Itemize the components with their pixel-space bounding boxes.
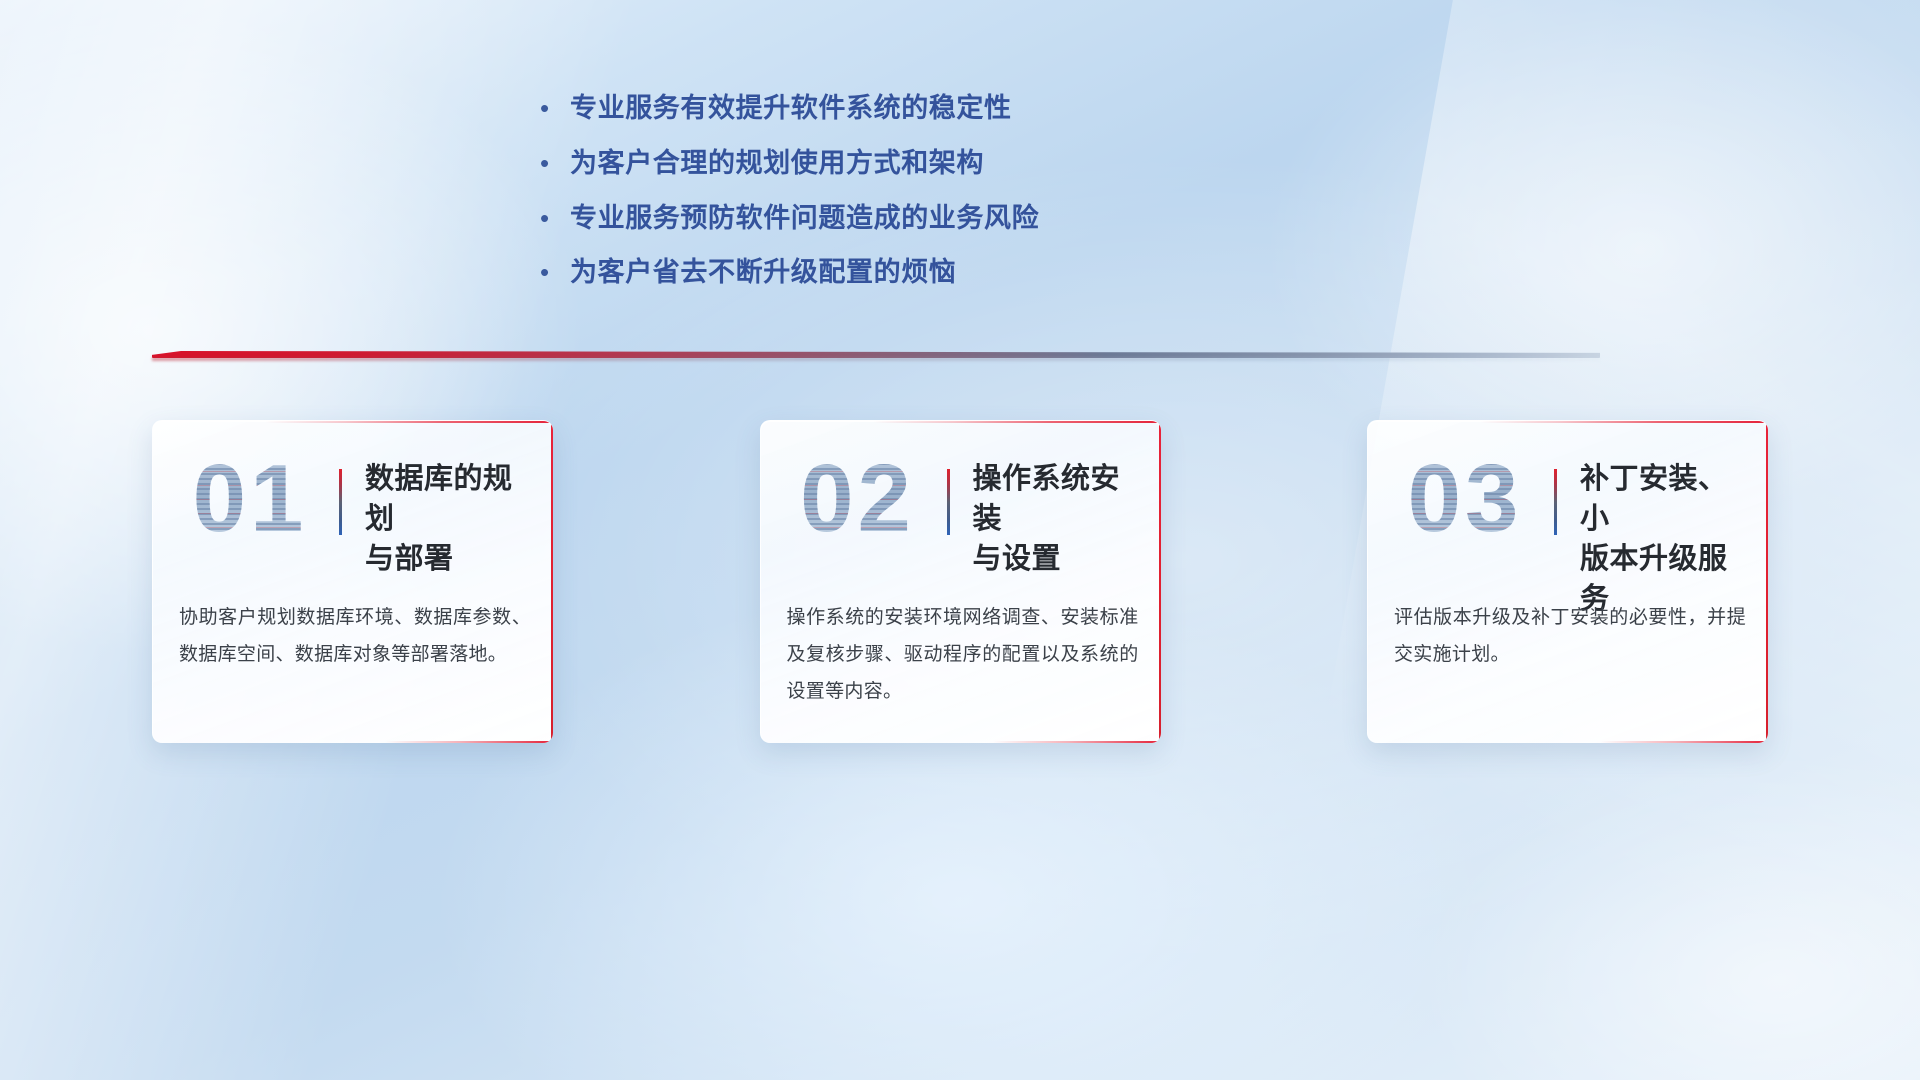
bullet-text: 为客户合理的规划使用方式和架构 (570, 147, 984, 181)
card-accent-bottom (1600, 741, 1768, 743)
card-accent-bottom (993, 741, 1161, 743)
bullet-text: 专业服务预防软件问题造成的业务风险 (570, 202, 1039, 236)
bullet-list: • 专业服务有效提升软件系统的稳定性 • 为客户合理的规划使用方式和架构 • 专… (540, 92, 1240, 311)
card-title-line1: 操作系统安装 (973, 459, 1143, 539)
bullet-dot-icon: • (540, 150, 570, 176)
card-number: 01 (175, 443, 325, 555)
list-item: • 专业服务有效提升软件系统的稳定性 (540, 92, 1240, 126)
card-body-text: 评估版本升级及补丁安装的必要性，并提交实施计划。 (1394, 599, 1746, 673)
divider-sheen (152, 357, 1600, 361)
card-title-line1: 数据库的规划 (365, 459, 535, 539)
list-item: • 为客户省去不断升级配置的烦恼 (540, 256, 1240, 290)
card-divider-bar (947, 469, 950, 535)
card-divider-bar (339, 469, 342, 535)
card-header: 01 01 数据库的规划 与部署 (153, 421, 553, 583)
card-title-line1: 补丁安装、小 (1580, 459, 1750, 539)
bullet-dot-icon: • (540, 205, 570, 231)
card-header: 03 03 补丁安装、小 版本升级服务 (1368, 421, 1768, 583)
card-title: 操作系统安装 与设置 (973, 459, 1143, 579)
card-divider-bar (1554, 469, 1557, 535)
bullet-text: 为客户省去不断升级配置的烦恼 (570, 256, 956, 290)
card-title: 数据库的规划 与部署 (365, 459, 535, 579)
card-title: 补丁安装、小 版本升级服务 (1580, 459, 1750, 619)
card-body-text: 操作系统的安装环境网络调查、安装标准及复核步骤、驱动程序的配置以及系统的设置等内… (787, 599, 1139, 710)
list-item: • 为客户合理的规划使用方式和架构 (540, 147, 1240, 181)
bullet-dot-icon: • (540, 259, 570, 285)
slide-canvas: • 专业服务有效提升软件系统的稳定性 • 为客户合理的规划使用方式和架构 • 专… (0, 0, 1920, 1080)
service-card-01[interactable]: 01 01 数据库的规划 与部署 协助客户规划数据库环境、数据库参数、数据库空间… (152, 420, 553, 743)
card-header: 02 02 操作系统安装 与设置 (761, 421, 1161, 583)
card-row: 01 01 数据库的规划 与部署 协助客户规划数据库环境、数据库参数、数据库空间… (152, 420, 1768, 750)
card-title-line2: 与设置 (973, 539, 1143, 579)
card-accent-bottom (385, 741, 553, 743)
card-title-line2: 与部署 (365, 539, 535, 579)
card-number: 02 (783, 443, 933, 555)
service-card-03[interactable]: 03 03 补丁安装、小 版本升级服务 评估版本升级及补丁安装的必要性，并提交实… (1367, 420, 1768, 743)
bullet-dot-icon: • (540, 95, 570, 121)
bullet-text: 专业服务有效提升软件系统的稳定性 (570, 92, 1012, 126)
card-number: 03 (1390, 443, 1540, 555)
list-item: • 专业服务预防软件问题造成的业务风险 (540, 202, 1240, 236)
service-card-02[interactable]: 02 02 操作系统安装 与设置 操作系统的安装环境网络调查、安装标准及复核步骤… (760, 420, 1161, 743)
section-divider (152, 349, 1600, 363)
card-body-text: 协助客户规划数据库环境、数据库参数、数据库空间、数据库对象等部署落地。 (179, 599, 531, 673)
